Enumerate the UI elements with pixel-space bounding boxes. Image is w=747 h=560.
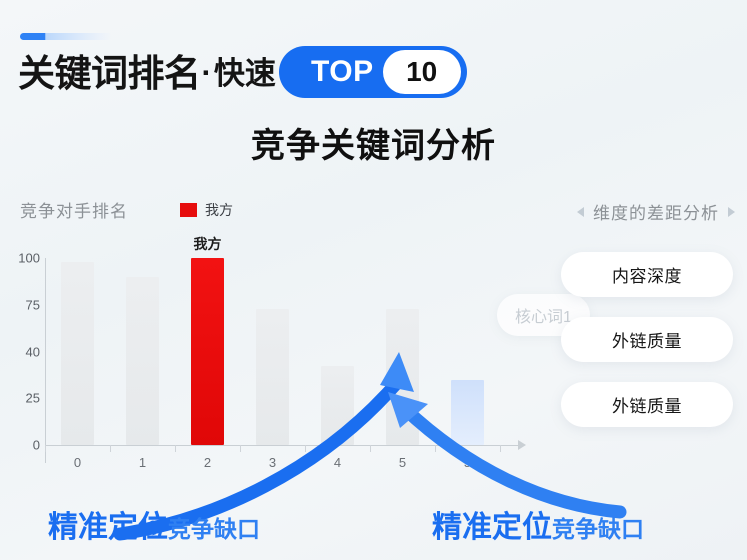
x-axis-tick-label: 2 (204, 455, 211, 470)
legend-label: 我方 (205, 200, 233, 220)
top-badge-number: 10 (406, 58, 437, 86)
x-axis-arrow-icon (518, 440, 526, 450)
y-axis-tick-label: 40 (0, 344, 40, 359)
x-axis-tick-label: 0 (74, 455, 81, 470)
x-axis-line (45, 445, 521, 446)
header-title: 关键词排名 (18, 55, 201, 92)
bar-competitor (451, 380, 484, 445)
header-subtitle: 快速 (214, 58, 276, 89)
x-axis-tickmark (110, 445, 111, 452)
bar-highlight-mine (191, 258, 224, 445)
x-axis-tick-label: 5 (464, 455, 471, 470)
y-axis-line (45, 258, 46, 463)
top-badge-label: TOP (311, 57, 374, 87)
x-axis-tickmark (435, 445, 436, 452)
x-axis-tick-label: 5 (399, 455, 406, 470)
callout-right: 精准定位 竞争缺口 (432, 502, 644, 546)
callout-right-strong: 精准定位 (432, 502, 552, 546)
x-axis-tickmark (370, 445, 371, 452)
x-axis-tickmark (240, 445, 241, 452)
top-badge-circle: 10 (383, 50, 461, 94)
callout-right-weak: 竞争缺口 (552, 510, 644, 544)
bar-competitor (386, 309, 419, 446)
chart-legend: 我方 (180, 200, 233, 220)
dimension-card-label: 外链质量 (612, 392, 682, 417)
bar-competitor (321, 366, 354, 445)
dimension-card[interactable]: 外链质量 (561, 382, 733, 427)
x-axis-tickmark (175, 445, 176, 452)
y-axis-tick-label: 100 (0, 251, 40, 266)
x-axis-tick-label: 4 (334, 455, 341, 470)
x-axis-tick-label: 1 (139, 455, 146, 470)
dimension-card-label: 内容深度 (612, 262, 682, 287)
callout-left: 精准定位 竞争缺口 (48, 502, 260, 546)
x-axis-tick-label: 3 (269, 455, 276, 470)
bar-annotation-label: 我方 (194, 234, 222, 254)
triangle-left-icon (577, 207, 584, 217)
competitor-ranking-bar-chart: 1007540250 我方 0123455 (0, 240, 530, 480)
header-separator: · (202, 55, 212, 91)
callout-left-weak: 竞争缺口 (168, 510, 260, 544)
x-axis-tickmark (45, 445, 46, 452)
triangle-right-icon (728, 207, 735, 217)
top-rank-badge: TOP 10 (279, 46, 467, 98)
bar-competitor (256, 309, 289, 446)
right-section-title: 维度的差距分析 (593, 199, 719, 224)
x-axis-tickmark (500, 445, 501, 452)
bar-competitor (126, 277, 159, 445)
page-title: 竞争关键词分析 (0, 118, 747, 167)
right-section-header: 维度的差距分析 (577, 199, 735, 224)
x-axis-tickmark (305, 445, 306, 452)
chart-caption: 竞争对手排名 (20, 197, 128, 222)
y-axis-tick-label: 0 (0, 438, 40, 453)
legend-swatch-icon (180, 203, 197, 217)
dimension-card[interactable]: 内容深度 (561, 252, 733, 297)
dimension-card[interactable]: 外链质量 (561, 317, 733, 362)
accent-bar (20, 33, 112, 40)
dimension-card-label: 外链质量 (612, 327, 682, 352)
callout-left-strong: 精准定位 (48, 502, 168, 546)
dimension-card-list: 内容深度外链质量外链质量 (561, 252, 733, 427)
y-axis-tick-label: 75 (0, 297, 40, 312)
bar-competitor (61, 262, 94, 445)
header-banner: 关键词排名 · 快速 (18, 46, 276, 100)
y-axis-ticks: 1007540250 (0, 258, 40, 445)
y-axis-tick-label: 25 (0, 391, 40, 406)
